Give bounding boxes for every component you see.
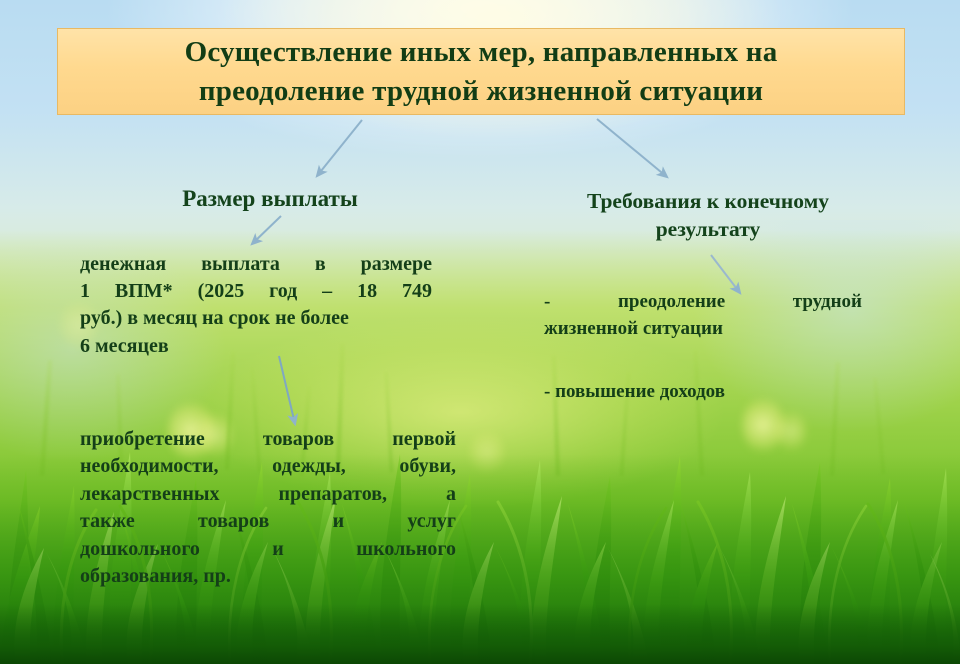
right-heading-line-1: Требования к конечному	[538, 188, 878, 216]
result-bullet-income: - повышение доходов	[544, 379, 862, 406]
left-branch-heading: Размер выплаты	[120, 184, 420, 213]
bokeh-spot	[776, 410, 806, 452]
payment-amount-paragraph: денежная выплата в размере 1 ВПМ* (2025 …	[80, 251, 432, 360]
title-line-1: Осуществление иных мер, направленных на	[185, 33, 778, 72]
grass-base-shadow	[0, 604, 960, 664]
goods-line: образования, пр.	[80, 563, 456, 590]
payment-line: 1 ВПМ* (2025 год – 18 749	[80, 278, 432, 305]
payment-line: руб.) в месяц на срок не более	[80, 305, 432, 332]
bullet-line: - преодоление трудной	[544, 289, 862, 316]
goods-line: необходимости, одежды, обуви,	[80, 453, 456, 480]
bullet-line: жизненной ситуации	[544, 316, 862, 343]
slide-canvas: Осуществление иных мер, направленных на …	[0, 0, 960, 664]
payment-line: 6 месяцев	[80, 333, 432, 360]
goods-line: также товаров и услуг	[80, 508, 456, 535]
goods-paragraph: приобретение товаров первой необходимост…	[80, 426, 456, 590]
goods-line: дошкольного и школьного	[80, 536, 456, 563]
payment-line: денежная выплата в размере	[80, 251, 432, 278]
page-title: Осуществление иных мер, направленных на …	[173, 33, 790, 110]
goods-line: приобретение товаров первой	[80, 426, 456, 453]
goods-line: лекарственных препаратов, а	[80, 481, 456, 508]
result-bullet-overcoming: - преодоление трудной жизненной ситуации	[544, 289, 862, 343]
right-heading-line-2: результату	[538, 216, 878, 244]
title-line-2: преодоление трудной жизненной ситуации	[185, 72, 778, 111]
title-banner: Осуществление иных мер, направленных на …	[57, 28, 905, 115]
right-branch-heading: Требования к конечному результату	[538, 188, 878, 243]
bullet-line: - повышение доходов	[544, 379, 862, 406]
